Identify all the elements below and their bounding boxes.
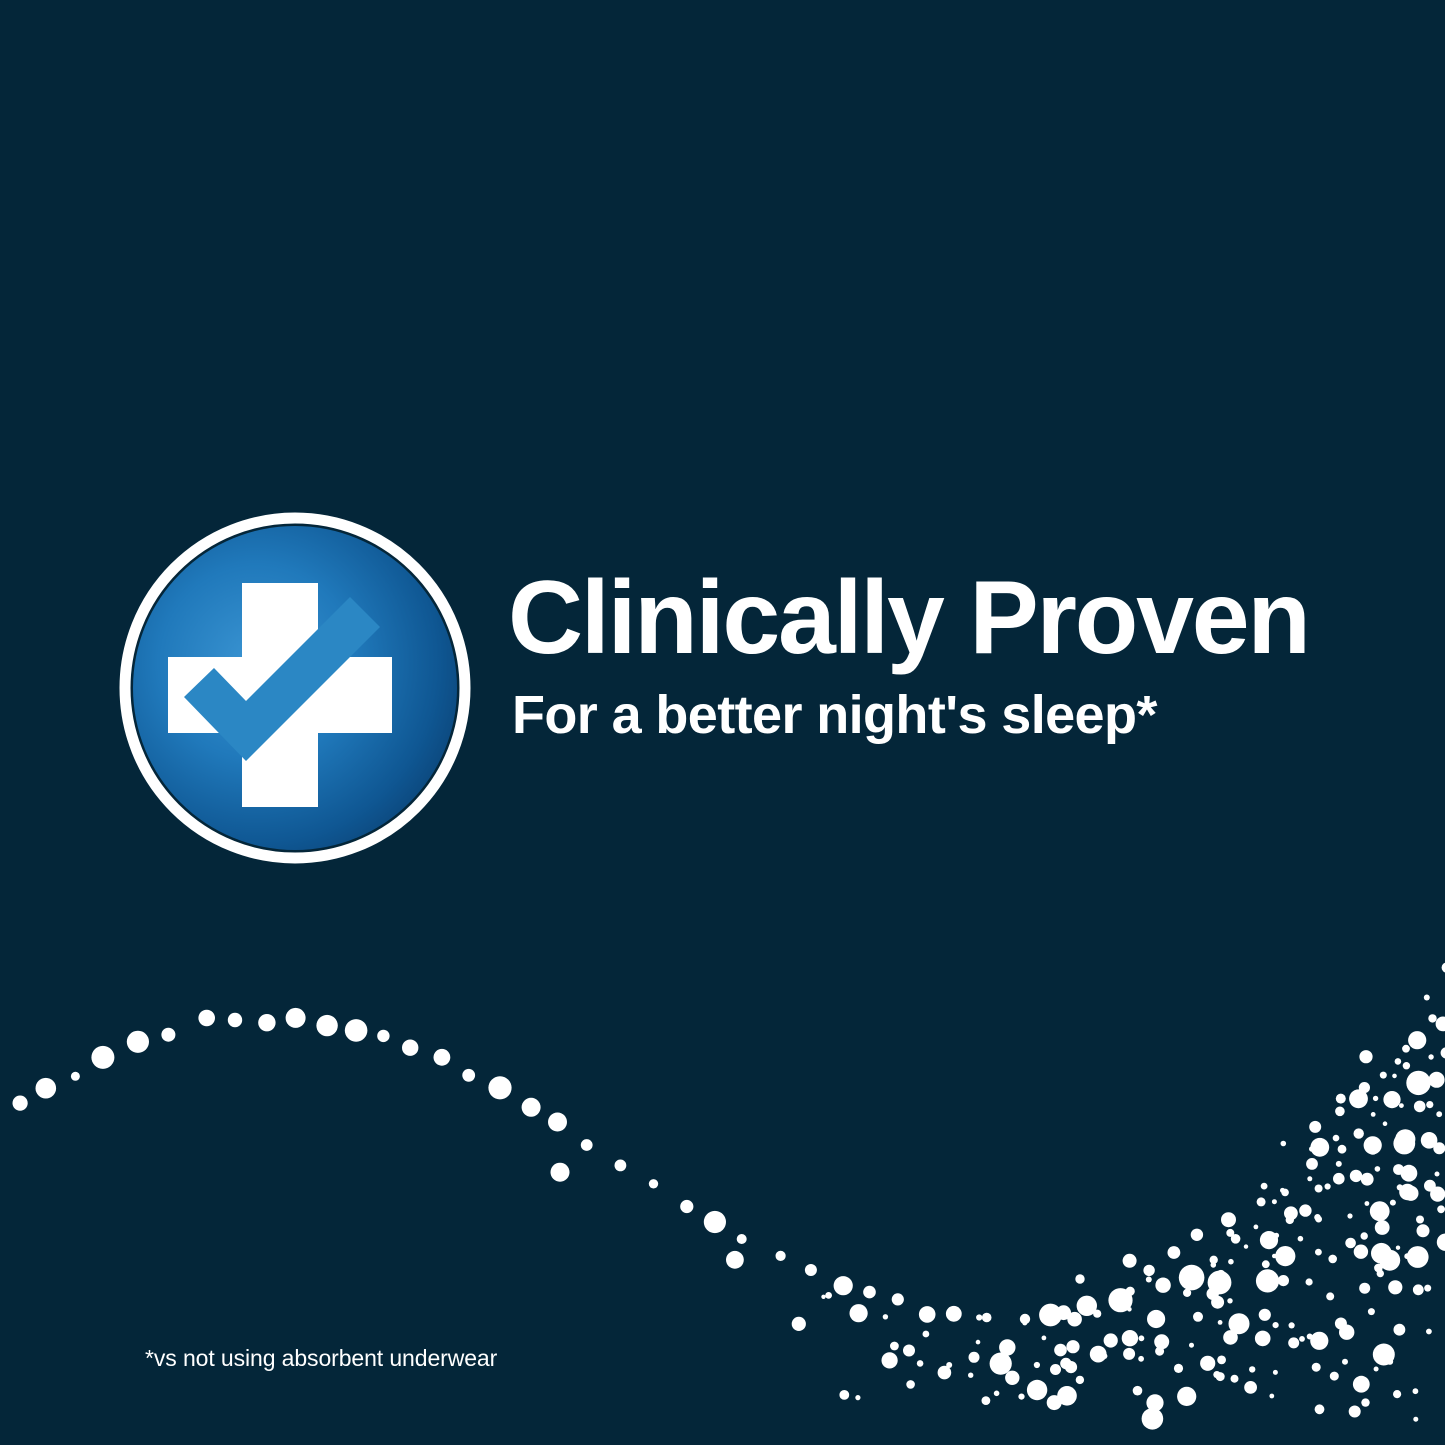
clinically-proven-badge: [118, 511, 472, 865]
page-title: Clinically Proven: [508, 566, 1408, 670]
promo-banner: Clinically Proven For a better night's s…: [0, 0, 1445, 1445]
footnote-disclaimer: *vs not using absorbent underwear: [145, 1345, 497, 1372]
page-subtitle: For a better night's sleep*: [512, 688, 1408, 742]
headline-block: Clinically Proven For a better night's s…: [508, 566, 1408, 742]
